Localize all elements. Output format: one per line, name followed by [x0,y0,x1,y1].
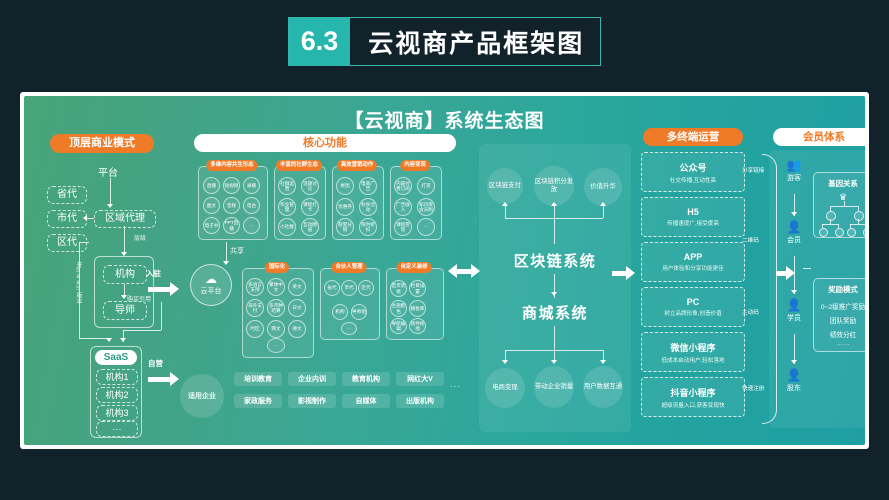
core-chip: PPT直播 [223,217,240,234]
connector [79,242,89,243]
member-role-label: 股东 [777,383,811,393]
member-role-label: 会员 [777,235,811,245]
cloud-platform-label: 云平台 [201,286,222,296]
core-group-title: 丰富的社群生态 [276,160,322,171]
core-chip: 导师组 [351,304,367,320]
core-chip: 社群运营 [278,177,296,195]
member-system-column: 会员体系 👥 游客 👤 会员 👤 学员 👤 股东 [769,128,865,428]
core-functions-header: 核心功能 [194,134,456,152]
blockchain-system-title: 区块链系统 [479,250,631,271]
member-role-member: 👤 会员 [777,220,811,245]
core-group-title: 国际化 [265,262,289,273]
core-chip: 市代 [341,280,357,296]
tutor-node: 导师 [103,301,147,320]
core-chip: 多币种结算 [267,299,285,317]
terminal-desc: 超级流量入口,获客变现快 [661,401,724,409]
rail-label: 分享链接 [742,166,764,174]
reward-item: 团队奖励 [814,315,865,325]
core-chip: 直播 [203,177,220,194]
self-run-arrow [148,372,179,386]
shareholder-icon: 👤 [777,368,811,382]
member-role-student: 👤 学员 [777,298,811,323]
core-chip: 栏目设置 [409,280,426,297]
terminal-card[interactable]: 公众号 社交传播,互动性高 [641,152,745,192]
terminal-name: PC [687,297,700,307]
core-chip: 限时折扣 [359,218,377,236]
saas-group: SaaS 机构1 机构2 机构3 ··· [90,346,142,438]
core-chip: 音频 [223,197,240,214]
core-chip: 日文 [288,299,306,317]
core-chip: 多语言支持 [246,278,264,296]
core-group-title: 合伙人管理 [332,262,367,273]
tier-label: 层级 [134,233,146,242]
blockchain-node: 区块链积分发放 [534,166,574,206]
core-group-partner: 合伙人管理 省代 市代 区代 机构 导师组 ··· [320,268,378,338]
connector [86,218,94,219]
core-group-title: 自定义装修 [397,262,432,273]
core-chip: 英文 [288,278,306,296]
saas-item: 机构1 [96,369,138,385]
gene-relation-box: 基因关系 ♛ [813,172,865,238]
industry-tag: 教育机构 [342,372,390,386]
core-chip: 优惠券 [336,198,354,216]
arrow-head [107,204,113,208]
business-model-column: 顶层商业模式 平台 省代 市代 区代 区域代理 层级 机构 导师 开SaaS版本… [38,134,166,434]
terminal-name: 抖音小程序 [670,386,715,399]
terminal-desc: 传播速度广,接受度高 [667,219,719,227]
agent-city: 市代 [47,210,87,228]
saas-item: 机构2 [96,387,138,403]
core-chip: 作业管理 [278,198,296,216]
reward-item: 绩效分红 [814,329,865,339]
core-chip: 打赏 [417,177,435,195]
connector [124,226,125,254]
arrow-head [600,360,606,364]
terminal-name: 微信小程序 [670,341,715,354]
industry-tag: 培训教育 [234,372,282,386]
terminal-desc: 低成本启动用户,轻松落地 [661,356,724,364]
industry-tag: 出版机构 [396,394,444,408]
connector [554,326,555,350]
blockchain-node: 带动企业销量 [534,366,574,408]
agent-province: 省代 [47,186,87,204]
arrow-head [551,292,557,296]
diagram-board: 【云视商】系统生态图 顶层商业模式 平台 省代 市代 区代 区域代理 层级 机构… [24,96,865,445]
core-chip: 录播 [243,177,260,194]
core-chip: 图文 [203,197,220,214]
tree-node [854,211,864,221]
agent-district: 区代 [47,234,87,252]
member-role-label: 游客 [777,173,811,183]
core-group-marketing: 高效营销动作 拼团 电商广告 优惠券 秒杀活动 裂变分销 限时折扣 [332,166,382,238]
core-chip-more: ··· [341,322,357,335]
org-node: 机构 [103,265,147,284]
blockchain-node: 电商变现 [485,368,525,408]
core-chip: 裂变分销 [336,218,354,236]
core-chip: 课程变现 [394,218,412,236]
connector [123,330,161,331]
multi-terminal-header: 多终端运营 [643,128,743,146]
arrow-head [551,202,557,206]
connector [794,256,795,294]
cloud-platform-node: ☁ 云平台 [190,264,232,306]
arrow-head [120,338,126,342]
terminal-card[interactable]: H5 传播速度广,接受度高 [641,197,745,237]
member-icon: 👤 [777,220,811,234]
terminal-desc: 用户体验和分享功能更佳 [662,264,724,272]
core-chip: 小社群 [278,218,296,236]
arrow-head [600,202,606,206]
region-agent-node: 区域代理 [94,210,156,228]
terminal-card[interactable]: 微信小程序 低成本启动用户,轻松落地 [641,332,745,372]
industry-tag: 影视制作 [288,394,336,408]
page-title: 云视商产品框架图 [350,18,600,65]
tree-node [835,228,844,237]
core-chip: 电商广告 [359,177,377,195]
tree-node [863,228,865,237]
gene-relation-title: 基因关系 [814,178,865,189]
core-group-title: 多维内容共生形态 [206,160,257,171]
core-chip: 韩文 [267,320,285,338]
core-chip: 互动圈层 [301,218,319,236]
core-chip: 课程打卡 [301,198,319,216]
core-chip: 导航编辑 [390,318,407,334]
cloud-icon: ☁ [205,274,217,285]
rail-label: 快速注册 [742,384,764,392]
connector [110,178,111,206]
core-chip: 机构 [332,304,348,320]
core-chip: 秒杀活动 [359,198,377,216]
core-group-monetize: 内容变现 内容付费订阅 打赏 广告收入 知识库会员制 课程变现 ··· [390,166,440,238]
core-group-content: 多维内容共生形态 直播 短视频 录播 图文 音频 电台 电子书 PPT直播 ··… [198,166,266,238]
member-role-label: 学员 [777,313,811,323]
arrow-head [502,360,508,364]
arrow-head [791,212,797,216]
core-chip: 主题配色 [390,300,407,317]
slide-number: 6.3 [289,18,351,65]
reward-mode-title: 奖励模式 [814,284,865,295]
blockchain-node: 用户数据互通 [583,366,623,408]
saas-item: 机构3 [96,405,138,421]
core-chip-more: ··· [417,218,435,236]
blockchain-terminal-arrow [612,266,635,280]
terminal-name: H5 [687,207,699,217]
connector [79,338,109,339]
connector [554,218,555,244]
core-chip: 繁体中文 [267,278,285,296]
arrow-head [791,360,797,364]
arrow-head [551,360,557,364]
core-chip: 短视频 [223,177,240,194]
terminal-desc: 社交传播,互动性高 [670,176,716,184]
industry-tag: 网红大V [396,372,444,386]
terminal-card[interactable]: APP 用户体验和分享功能更佳 [641,242,745,282]
title-box: 6.3 云视商产品框架图 [288,17,602,66]
terminal-card[interactable]: PC 树立品牌形象,创造价值 [641,287,745,327]
industry-more: ··· [450,382,461,391]
core-chip: 德文 [288,320,306,338]
rail-label: 主动码 [742,308,759,316]
rail-label: 二维码 [742,236,759,244]
core-chip: 区代 [358,280,374,296]
blockchain-column: 区块链支付 区块链积分发放 价值升华 区块链系统 商城系统 电商变现 带动企业销… [479,144,631,432]
join-arrow-label: 入驻 [146,268,161,279]
industry-tag: 自媒体 [342,394,390,408]
org-tutor-group: 机构 导师 [94,256,154,328]
arrow-head [791,290,797,294]
core-chip: 电台 [243,197,260,214]
terminal-card[interactable]: 抖音小程序 超级流量入口,获客变现快 [641,377,745,417]
core-chip-more: ··· [267,338,285,353]
core-chip-more: ··· [243,217,260,234]
reward-item-more: ······ [814,341,865,348]
terminal-name: 公众号 [679,161,706,174]
core-group-decoration: 自定义装修 首页装修 栏目设置 主题配色 模板库 导航编辑 组件拖拽 [386,268,442,338]
blockchain-node: 价值升华 [584,168,622,206]
multi-terminal-column: 多终端运营 公众号 社交传播,互动性高 H5 传播速度广,接受度高 APP 用户… [639,128,747,428]
core-chip: 省代 [324,280,340,296]
student-icon: 👤 [777,298,811,312]
core-chip: 组件拖拽 [409,318,426,334]
reward-item: 0~2级推广奖励 [814,301,865,311]
connector [803,268,811,269]
tree-node [847,228,856,237]
saas-item-more: ··· [96,421,138,437]
core-group-title: 高效营销动作 [337,160,377,171]
tree-node [826,211,836,221]
core-group-international: 国际化 多语言支持 繁体中文 英文 海外支付 多币种结算 日文 时区 韩文 德文… [242,268,312,356]
diagram-canvas: 【云视商】系统生态图 顶层商业模式 平台 省代 市代 区代 区域代理 层级 机构… [20,92,869,449]
core-chip: 首页装修 [390,280,407,297]
blockchain-node: 区块链支付 [487,168,523,204]
member-system-header: 会员体系 [773,128,865,146]
connector [161,302,162,330]
suitable-enterprise-badge: 适用企业 [180,374,224,418]
slide-title-bar: 6.3 云视商产品框架图 [0,14,889,69]
join-arrow [148,282,179,296]
core-chip: 海外支付 [246,299,264,317]
group-icon: 👥 [777,158,811,172]
arrow-head [83,215,87,221]
arrow-head [223,261,229,265]
core-group-community: 丰富的社群生态 社群运营 话题讨论 作业管理 课程打卡 小社群 互动圈层 [274,166,324,238]
industry-tag: 家政服务 [234,394,282,408]
connector [505,206,506,218]
member-system-panel: 👥 游客 👤 会员 👤 学员 👤 股东 基因关 [769,150,865,428]
tree-node [819,228,828,237]
core-chip: 时区 [246,320,264,338]
connector [79,242,80,338]
platform-node: 平台 [98,164,118,179]
member-role-shareholder: 👤 股东 [777,368,811,393]
member-role-guest: 👥 游客 [777,158,811,183]
core-chip: 内容付费订阅 [394,177,412,195]
core-group-title: 内容变现 [400,160,430,171]
saas-node: SaaS [95,350,137,365]
connector [554,206,555,218]
connector [603,206,604,218]
core-chip: 广告收入 [394,198,412,216]
share-label: 共享 [230,246,244,256]
business-model-header: 顶层商业模式 [50,134,154,153]
core-chip: 电子书 [203,217,220,234]
reward-mode-box: 奖励模式 0~2级推广奖励 团队奖励 绩效分红 ······ [813,278,865,352]
core-blockchain-arrow [448,264,480,278]
core-chip: 话题讨论 [301,177,319,195]
terminal-name: APP [684,252,703,262]
core-chip: 知识库会员制 [417,198,435,216]
arrow-head [502,202,508,206]
core-chip: 模板库 [409,300,426,317]
mall-system-title: 商城系统 [479,302,631,323]
terminal-desc: 树立品牌形象,创造价值 [664,309,722,317]
self-run-arrow-label: 自营 [148,358,163,369]
core-chip: 拼团 [336,177,354,195]
industry-tag: 企业内训 [288,372,336,386]
arrow-head [106,338,112,342]
